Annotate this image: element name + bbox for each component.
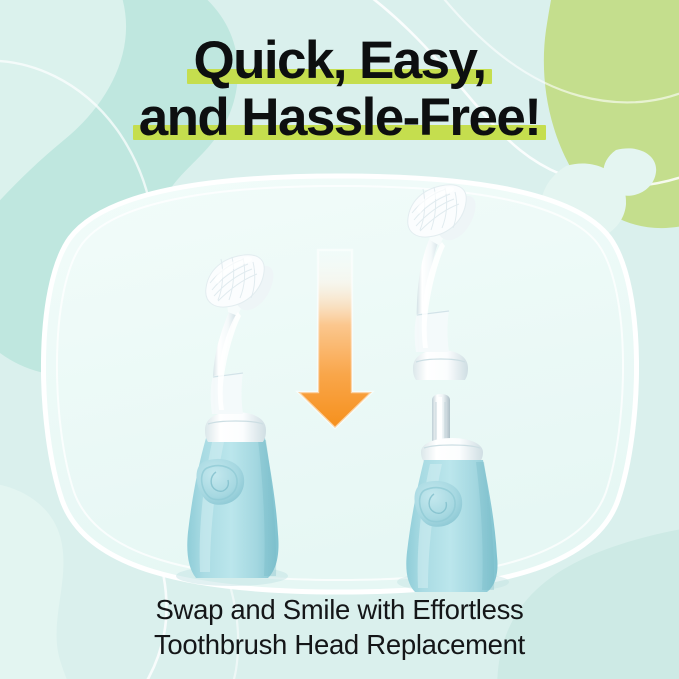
headline-line-1: Quick, Easy, <box>0 34 679 89</box>
headline: Quick, Easy, and Hassle-Free! <box>0 34 679 145</box>
headline-line-2-text: and Hassle-Free! <box>139 88 541 147</box>
infographic-canvas: Quick, Easy, and Hassle-Free! <box>0 0 679 679</box>
caption-line-1: Swap and Smile with Effortless <box>0 592 679 627</box>
caption-line-2: Toothbrush Head Replacement <box>0 627 679 662</box>
product-stage-panel <box>43 176 636 592</box>
headline-line-2: and Hassle-Free! <box>0 91 679 146</box>
caption: Swap and Smile with Effortless Toothbrus… <box>0 592 679 662</box>
headline-line-1-text: Quick, Easy, <box>193 31 485 90</box>
